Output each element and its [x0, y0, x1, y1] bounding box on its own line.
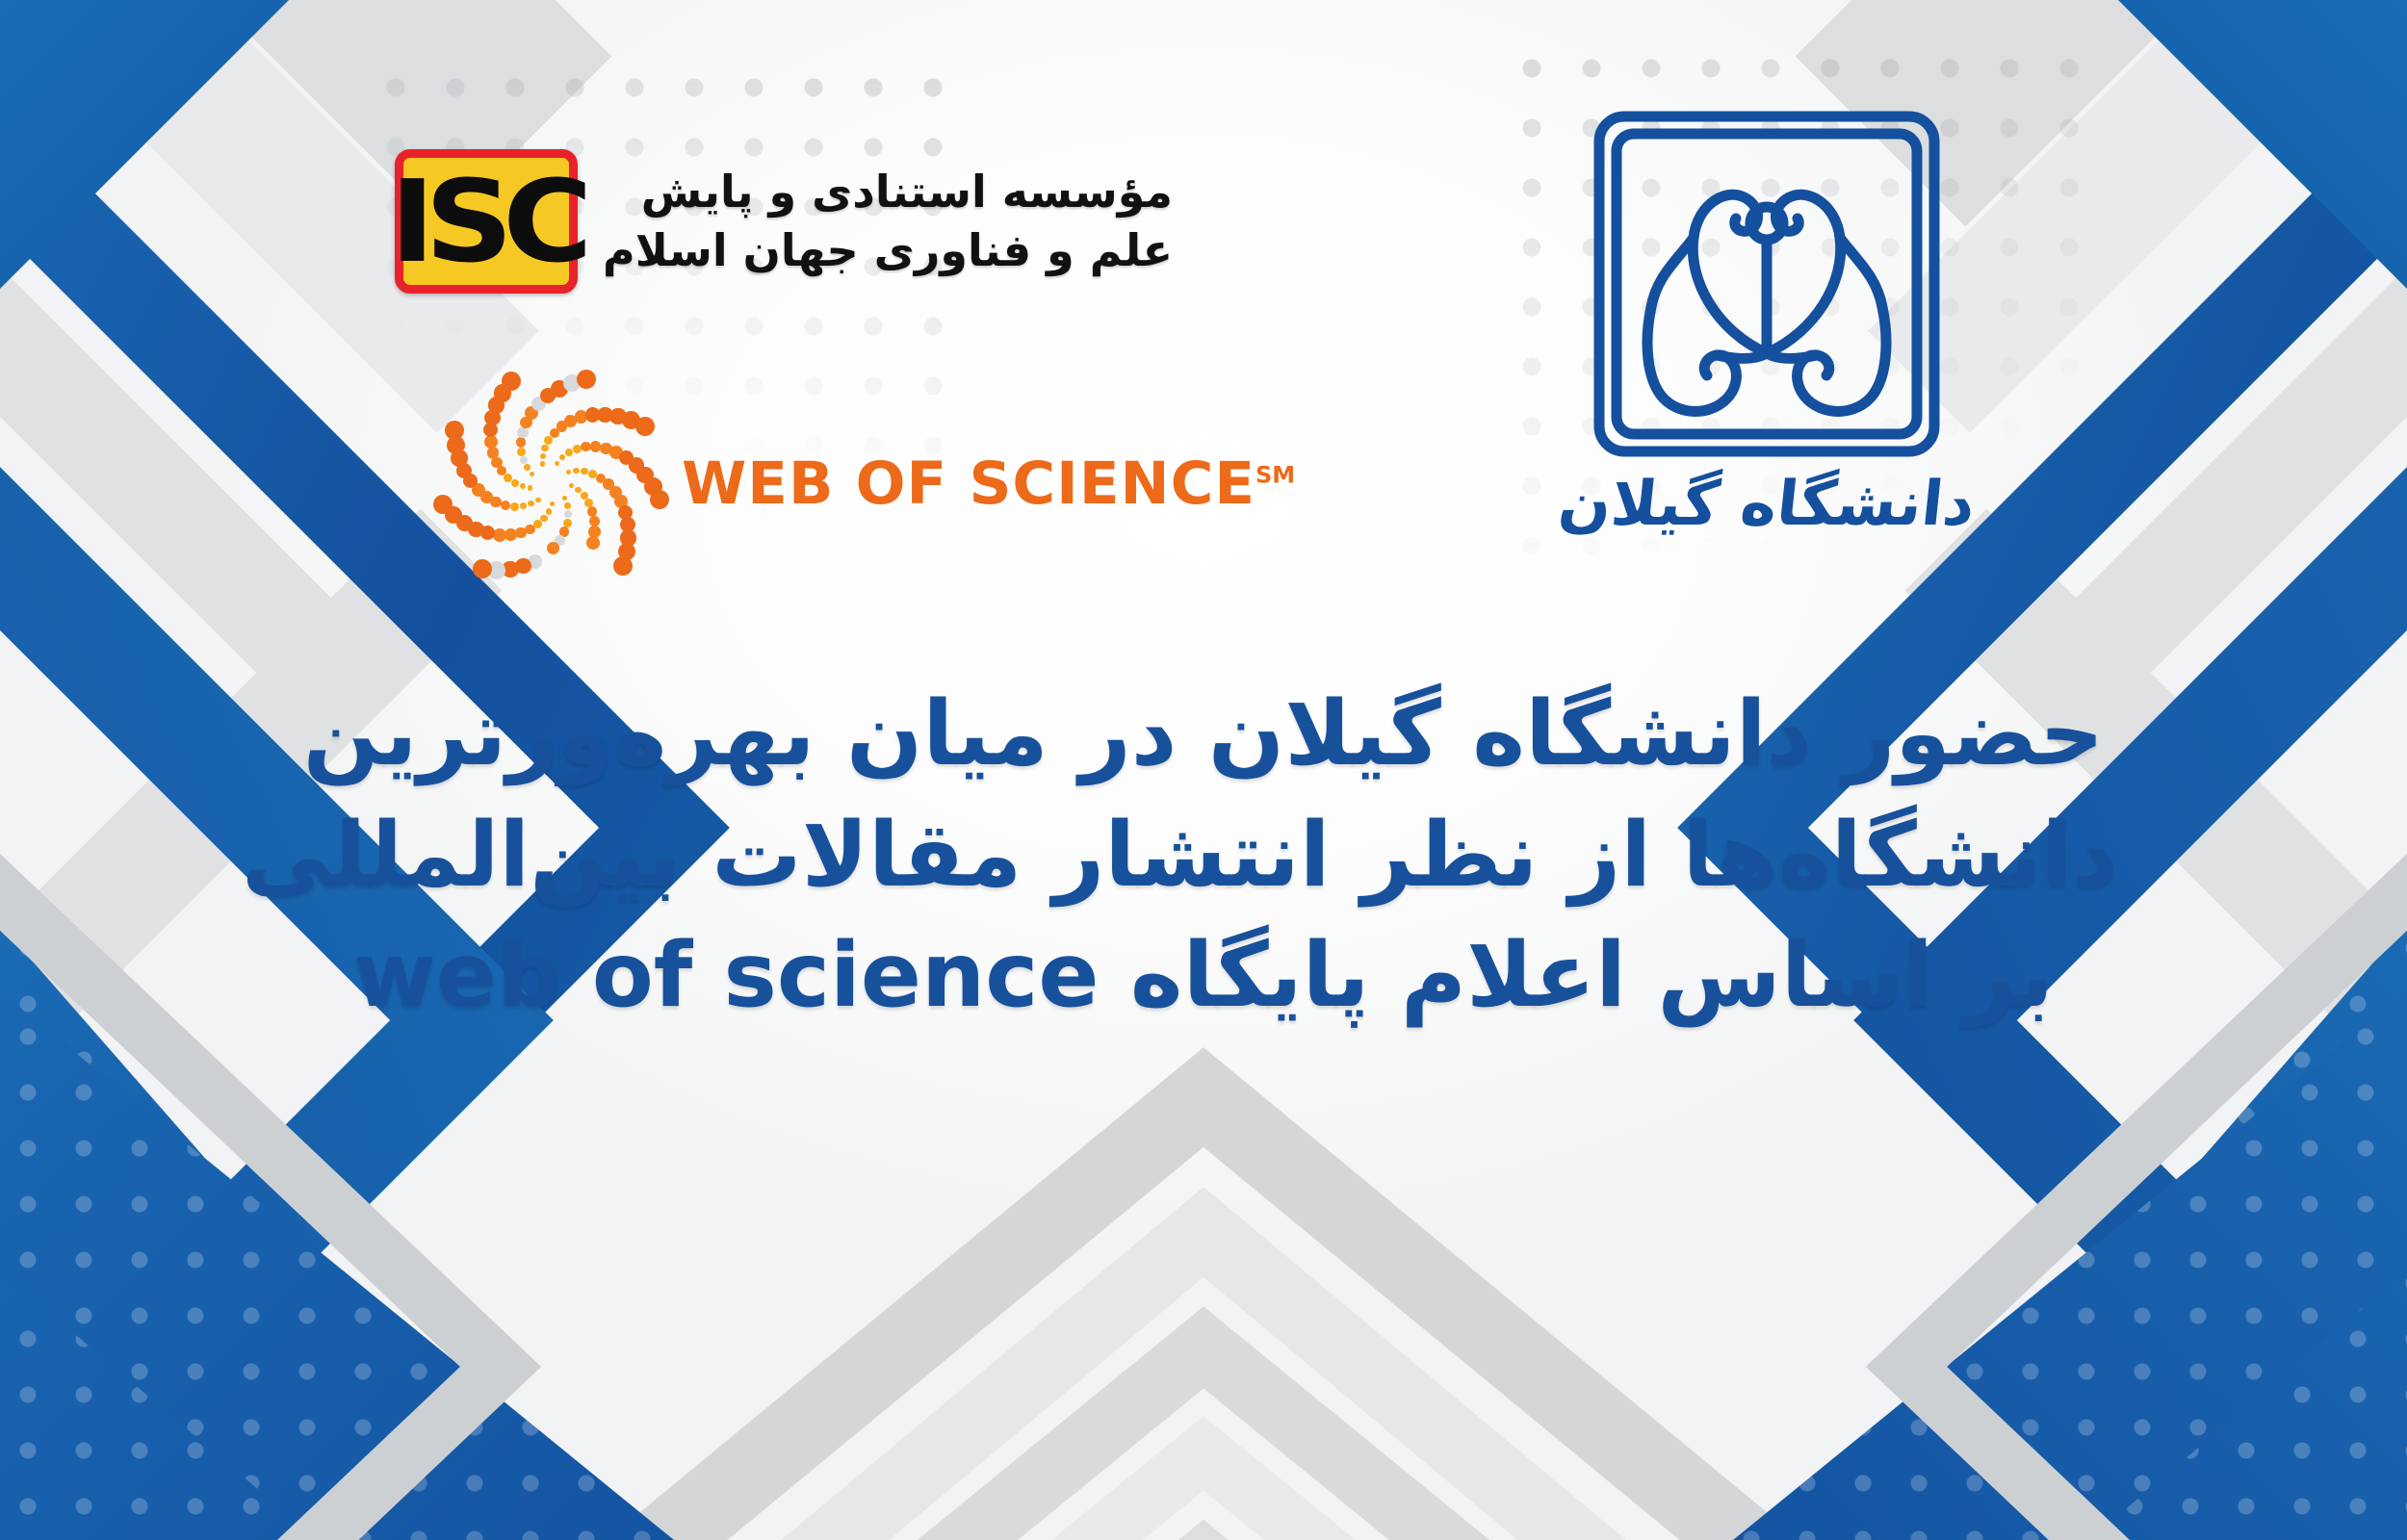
wos-dot	[566, 470, 571, 475]
isc-name-line-1: مؤسسه استنادی و پایش	[603, 163, 1173, 221]
wos-dot	[484, 435, 498, 449]
wos-dot	[511, 479, 519, 487]
wos-dot	[501, 500, 510, 510]
wos-dot	[502, 372, 521, 391]
web-of-science-logo: WEB OF SCIENCESM	[438, 371, 1295, 597]
wos-dot	[564, 502, 570, 508]
headline-line-3: بر اساس اعلام پایگاه web of science	[289, 915, 2118, 1037]
announcement-banner: ISC مؤسسه استنادی و پایش علم و فناوری جه…	[0, 0, 2407, 1540]
wos-dot	[550, 501, 555, 506]
headline-line-2: دانشگاه‌ها از نظر انتشار مقالات بین‌المل…	[289, 795, 2118, 916]
wos-dot	[517, 448, 526, 456]
wos-dot	[515, 527, 526, 538]
wos-dot	[581, 468, 588, 475]
wos-service-mark: SM	[1255, 462, 1295, 489]
wos-dot	[635, 417, 655, 436]
wos-dot	[547, 542, 559, 554]
wos-dot	[541, 445, 549, 452]
wos-wordmark-text: WEB OF SCIENCE	[682, 449, 1255, 518]
wos-dot	[520, 502, 528, 510]
wos-dot	[559, 454, 565, 460]
wos-dot	[562, 496, 567, 500]
isc-name-line-2: علم و فناوری جهان اسلام	[603, 221, 1173, 280]
wos-dot	[546, 508, 552, 514]
wos-dot	[573, 468, 579, 474]
wos-dot	[577, 370, 596, 389]
wos-dot	[487, 447, 500, 459]
headline: حضور دانشگاه گیلان در میان بهره‌ورترین د…	[289, 674, 2118, 1037]
wos-dot	[575, 487, 581, 493]
isc-logo: ISC مؤسسه استنادی و پایش علم و فناوری جه…	[395, 149, 1173, 294]
wos-dot	[528, 485, 532, 490]
wos-dot	[473, 559, 492, 578]
wos-dot	[520, 456, 528, 464]
headline-line-3-rtl: بر اساس اعلام پایگاه	[1130, 923, 2054, 1027]
wos-dot	[565, 449, 573, 456]
wos-dot	[569, 483, 574, 488]
headline-line-1: حضور دانشگاه گیلان در میان بهره‌ورترین	[289, 674, 2118, 795]
guilan-emblem-icon	[1574, 91, 1959, 476]
isc-mark-icon: ISC	[395, 149, 578, 294]
wos-dot	[504, 474, 512, 482]
web-of-science-dots-icon	[438, 371, 664, 597]
wos-dot	[493, 528, 506, 542]
wos-dot	[564, 510, 572, 518]
wos-dot	[573, 445, 582, 453]
wos-dot	[613, 556, 633, 576]
wos-dot	[517, 427, 528, 438]
wos-dot	[525, 525, 534, 534]
wos-dot	[528, 500, 533, 506]
university-of-guilan-logo: دانشگاه گیلان	[1540, 91, 1993, 540]
wos-dot	[540, 515, 548, 523]
wos-dot	[555, 461, 559, 466]
wos-dot	[520, 483, 526, 489]
isc-mark-text: ISC	[390, 165, 582, 278]
wos-dot	[586, 536, 600, 550]
wos-dot	[505, 528, 517, 541]
wos-dot	[587, 506, 597, 516]
wos-dot	[535, 498, 540, 502]
banner-content: ISC مؤسسه استنادی و پایش علم و فناوری جه…	[0, 0, 2407, 1540]
web-of-science-wordmark: WEB OF SCIENCESM	[682, 449, 1295, 518]
wos-dot	[524, 464, 530, 470]
wos-dot	[530, 472, 534, 476]
wos-dot	[650, 490, 669, 509]
wos-dot	[540, 453, 546, 459]
guilan-university-name: دانشگاه گیلان	[1537, 469, 1997, 540]
headline-line-3-ltr: web of science	[353, 923, 1100, 1027]
wos-dot	[540, 461, 545, 466]
wos-dot	[516, 437, 526, 447]
isc-institute-name: مؤسسه استنادی و پایش علم و فناوری جهان ا…	[603, 163, 1173, 279]
wos-dot	[510, 502, 519, 511]
